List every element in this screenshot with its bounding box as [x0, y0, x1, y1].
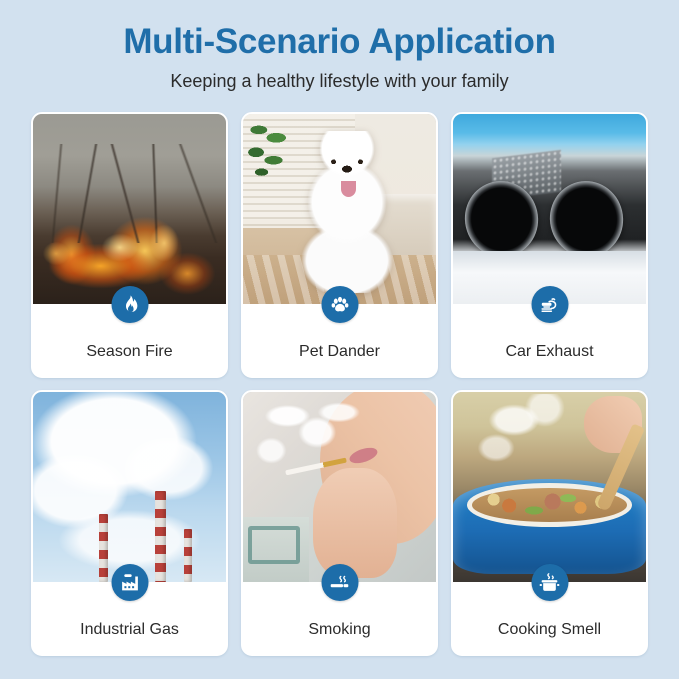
scenario-label-text: Pet Dander [299, 342, 380, 362]
factory-icon [111, 564, 148, 601]
cigarette-icon [321, 564, 358, 601]
scenario-label-text: Season Fire [86, 342, 172, 362]
stew-pot-photo [453, 392, 646, 582]
steaming-pot-icon [531, 564, 568, 601]
smokestacks-photo [33, 392, 226, 582]
header: Multi-Scenario Application Keeping a hea… [0, 20, 679, 94]
scenario-card-industrial-gas[interactable]: Industrial Gas [31, 390, 228, 656]
wildfire-photo [33, 114, 226, 304]
paw-icon [321, 286, 358, 323]
scenario-label-text: Cooking Smell [498, 620, 601, 640]
white-dog-living-room-photo [243, 114, 436, 304]
car-exhaust-pipes-photo [453, 114, 646, 304]
exhaust-icon [531, 286, 568, 323]
scenario-grid: Season Fire [31, 112, 648, 656]
scenario-label-text: Car Exhaust [505, 342, 593, 362]
scenario-card-cooking-smell[interactable]: Cooking Smell [451, 390, 648, 656]
page-title: Multi-Scenario Application [0, 20, 679, 64]
scenario-card-car-exhaust[interactable]: Car Exhaust [451, 112, 648, 378]
scenario-card-pet-dander[interactable]: Pet Dander [241, 112, 438, 378]
scenario-card-smoking[interactable]: Smoking [241, 390, 438, 656]
woman-smoking-photo [243, 392, 436, 582]
multi-scenario-application-panel: Multi-Scenario Application Keeping a hea… [0, 0, 679, 679]
scenario-card-season-fire[interactable]: Season Fire [31, 112, 228, 378]
scenario-label-text: Smoking [308, 620, 370, 640]
page-subtitle: Keeping a healthy lifestyle with your fa… [0, 68, 679, 94]
flame-icon [111, 286, 148, 323]
scenario-label-text: Industrial Gas [80, 620, 179, 640]
